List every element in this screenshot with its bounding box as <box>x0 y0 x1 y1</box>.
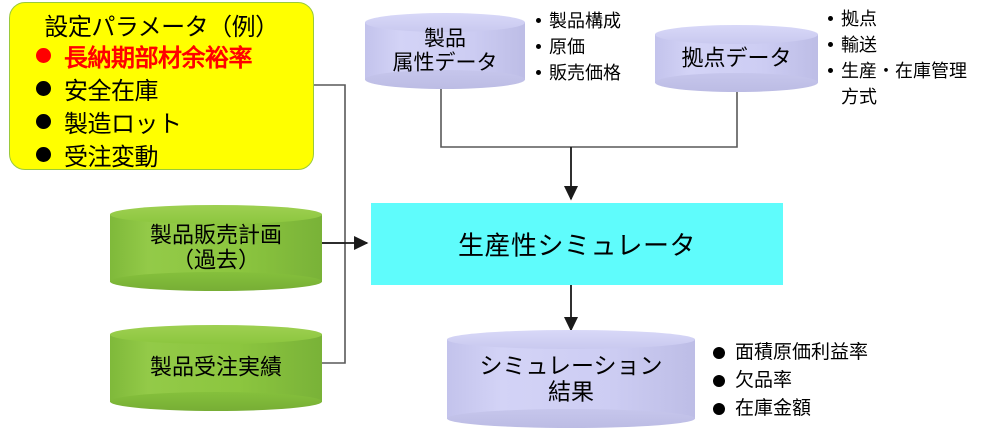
parameter-item-0: 長納期部材余裕率 <box>36 39 306 72</box>
annotation-row: 原価 <box>536 34 621 60</box>
cylinder-top-ellipse <box>447 330 695 349</box>
parameter-item-label: 製造ロット <box>64 104 182 139</box>
parameter-item-label: 安全在庫 <box>64 71 158 106</box>
annotation-simulation-result: 面積原価利益率 欠品率 在庫金額 <box>713 339 868 423</box>
parameter-item-3: 受注変動 <box>36 138 306 171</box>
bullet-dot-icon <box>536 18 541 23</box>
node-simulator: 生産性シミュレータ <box>371 203 783 285</box>
diagram-canvas: 設定パラメータ（例） 長納期部材余裕率 安全在庫 製造ロット 受注変動 製 <box>0 0 1000 434</box>
annotation-text: 面積原価利益率 <box>735 339 868 367</box>
bullet-dot-icon <box>36 81 51 96</box>
annotation-row: 拠点 <box>828 6 967 32</box>
bullet-dot-icon <box>828 68 833 73</box>
annotation-text: 輸送 <box>841 32 877 58</box>
annotation-text: 販売価格 <box>549 60 621 86</box>
parameter-panel-title: 設定パラメータ（例） <box>10 7 313 42</box>
bullet-dot-icon <box>713 375 725 387</box>
parameter-item-label: 受注変動 <box>64 137 158 172</box>
bullet-dot-icon <box>536 44 541 49</box>
node-simulation-result: シミュレーション 結果 <box>447 330 695 428</box>
cylinder-bottom-ellipse <box>110 272 322 291</box>
node-label: 製品 属性データ <box>365 27 525 74</box>
cylinder-bottom-ellipse <box>655 73 818 92</box>
bullet-dot-icon <box>713 347 725 359</box>
node-label: 拠点データ <box>655 46 818 71</box>
bullet-dot-icon <box>828 16 833 21</box>
annotation-row: 輸送 <box>828 32 967 58</box>
annotation-text: 原価 <box>549 34 585 60</box>
bullet-dot-icon <box>36 114 51 129</box>
node-order-record: 製品受注実績 <box>110 325 322 411</box>
node-label: シミュレーション 結果 <box>447 353 695 405</box>
annotation-text: 欠品率 <box>735 367 792 395</box>
annotation-row: 製品構成 <box>536 8 621 34</box>
cylinder-top-ellipse <box>110 325 322 344</box>
parameter-list: 長納期部材余裕率 安全在庫 製造ロット 受注変動 <box>36 39 306 171</box>
parameter-item-2: 製造ロット <box>36 105 306 138</box>
annotation-row: 面積原価利益率 <box>713 339 868 367</box>
node-label: 製品販売計画 （過去） <box>110 223 322 272</box>
annotation-product-attribute: 製品構成 原価 販売価格 <box>536 8 621 86</box>
annotation-row: 生産・在庫管理 方式 <box>828 58 967 110</box>
parameter-item-label: 長納期部材余裕率 <box>64 38 252 73</box>
annotation-row: 在庫金額 <box>713 395 868 423</box>
annotation-text: 製品構成 <box>549 8 621 34</box>
node-sales-plan: 製品販売計画 （過去） <box>110 205 322 291</box>
node-site-data: 拠点データ <box>655 25 818 92</box>
parameter-item-1: 安全在庫 <box>36 72 306 105</box>
parameter-panel: 設定パラメータ（例） 長納期部材余裕率 安全在庫 製造ロット 受注変動 <box>9 2 314 170</box>
cylinder-top-ellipse <box>655 25 818 44</box>
cylinder-bottom-ellipse <box>447 409 695 428</box>
bullet-dot-icon <box>713 403 725 415</box>
annotation-text: 在庫金額 <box>735 395 811 423</box>
bullet-dot-icon <box>36 147 51 162</box>
annotation-text: 生産・在庫管理 方式 <box>841 58 967 110</box>
bullet-dot-icon <box>536 70 541 75</box>
bullet-dot-icon <box>828 42 833 47</box>
annotation-row: 販売価格 <box>536 60 621 86</box>
bullet-dot-icon <box>36 48 51 63</box>
node-label: 製品受注実績 <box>110 356 322 381</box>
cylinder-bottom-ellipse <box>110 392 322 411</box>
wire-product-attr-to-junction <box>441 88 737 147</box>
annotation-row: 欠品率 <box>713 367 868 395</box>
cylinder-top-ellipse <box>110 205 322 224</box>
node-product-attribute-data: 製品 属性データ <box>365 13 525 89</box>
annotation-site-data: 拠点 輸送 生産・在庫管理 方式 <box>828 6 967 110</box>
annotation-text: 拠点 <box>841 6 877 32</box>
node-label: 生産性シミュレータ <box>371 226 783 263</box>
